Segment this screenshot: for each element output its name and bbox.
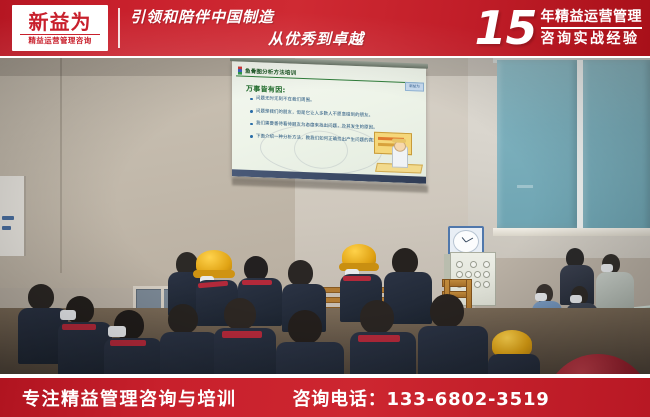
logo-main-text: 新益为 — [29, 11, 92, 33]
logo-sub-text: 精益运营管理咨询 — [28, 36, 91, 45]
panel-button — [483, 271, 490, 278]
clock-minute-hand — [466, 237, 473, 242]
window-sill — [493, 228, 650, 236]
panel-button — [456, 261, 463, 268]
bullet-dot-icon — [250, 110, 253, 113]
years-rule — [541, 27, 643, 29]
header-divider — [118, 8, 120, 48]
slide-cartoon-illustration — [374, 132, 422, 174]
window-curtain-right — [583, 60, 650, 232]
header-slogan: 引领和陪伴中国制造 从优秀到卓越 — [130, 6, 370, 52]
slogan-line-1: 引领和陪伴中国制造 — [130, 6, 370, 28]
bullet-dot-icon — [250, 135, 253, 138]
panel-button — [483, 261, 490, 268]
panel-button-row — [456, 261, 490, 268]
window-curtain-left — [497, 60, 577, 228]
slide-surface: 鱼骨图分析方法培训 新益为 万事皆有因: 问题无时无刻不在我们周围。 问题是我们… — [232, 61, 426, 183]
slide-title-bar: 鱼骨图分析方法培训 — [236, 64, 422, 83]
panel-button — [483, 281, 490, 288]
slide-title-text: 鱼骨图分析方法培训 — [245, 66, 296, 76]
company-logo: 新益为 精益运营管理咨询 — [12, 5, 108, 51]
footer-tagline: 专注精益管理咨询与培训 — [22, 385, 237, 411]
wall-seam — [60, 58, 62, 273]
footer-phone[interactable]: 咨询电话：133-6802-3519 — [293, 385, 550, 411]
cartoon-hat — [392, 138, 406, 143]
slide-corner-logo: 新益为 — [405, 82, 424, 92]
experience-badge: 15 年精益运营管理 咨询实战经验 — [474, 2, 642, 54]
slogan-line-2: 从优秀到卓越 — [130, 28, 370, 50]
years-line-1: 年精益运营管理 — [541, 8, 643, 26]
bullet-dot-icon — [250, 98, 253, 101]
footer-banner: 专注精益管理咨询与培训 咨询电话：133-6802-3519 — [0, 378, 650, 417]
years-text-block: 年精益运营管理 咨询实战经验 — [541, 8, 643, 48]
logo-divider — [20, 34, 100, 35]
panel-button — [470, 261, 477, 268]
promo-banner-image: 新益为 精益运营管理咨询 引领和陪伴中国制造 从优秀到卓越 15 年精益运营管理… — [0, 0, 650, 417]
panel-button — [456, 271, 463, 278]
bullet-text: 问题是我们的朋友，但是它让人多数人不愿意碰到的朋友。 — [256, 109, 373, 120]
panel-button — [474, 281, 481, 288]
panel-button — [474, 271, 481, 278]
slide-title-marker — [238, 66, 242, 74]
years-line-2: 咨询实战经验 — [541, 30, 643, 48]
header-banner: 新益为 精益运营管理咨询 引领和陪伴中国制造 从优秀到卓越 15 年精益运营管理… — [0, 0, 650, 56]
curtain-tag — [517, 185, 533, 188]
years-number: 15 — [474, 5, 540, 51]
bullet-dot-icon — [250, 123, 253, 126]
panel-button-row — [456, 271, 490, 278]
slide-bullet: 问题是我们的朋友，但是它让人多数人不愿意碰到的朋友。 — [250, 108, 418, 120]
panel-button — [465, 271, 472, 278]
bullet-text: 问题无时无刻不在我们周围。 — [256, 96, 315, 104]
bullet-text: 我们需要善待看待朋友为态度来找出问题，及其发生的原因。 — [256, 121, 378, 132]
projection-screen: 鱼骨图分析方法培训 新益为 万事皆有因: 问题无时无刻不在我们周围。 问题是我们… — [230, 58, 428, 188]
training-photo: 鱼骨图分析方法培训 新益为 万事皆有因: 问题无时无刻不在我们周围。 问题是我们… — [0, 58, 650, 376]
bullet-text: 下面介绍一种分析方法，教我们如何正确找出产生问题的真正原因。 — [256, 134, 391, 145]
clock-face — [453, 230, 479, 253]
slide-heading: 万事皆有因: — [246, 84, 286, 96]
slide-bullet: 问题无时无刻不在我们周围。 — [250, 96, 418, 108]
left-wall-fixture — [0, 176, 26, 256]
